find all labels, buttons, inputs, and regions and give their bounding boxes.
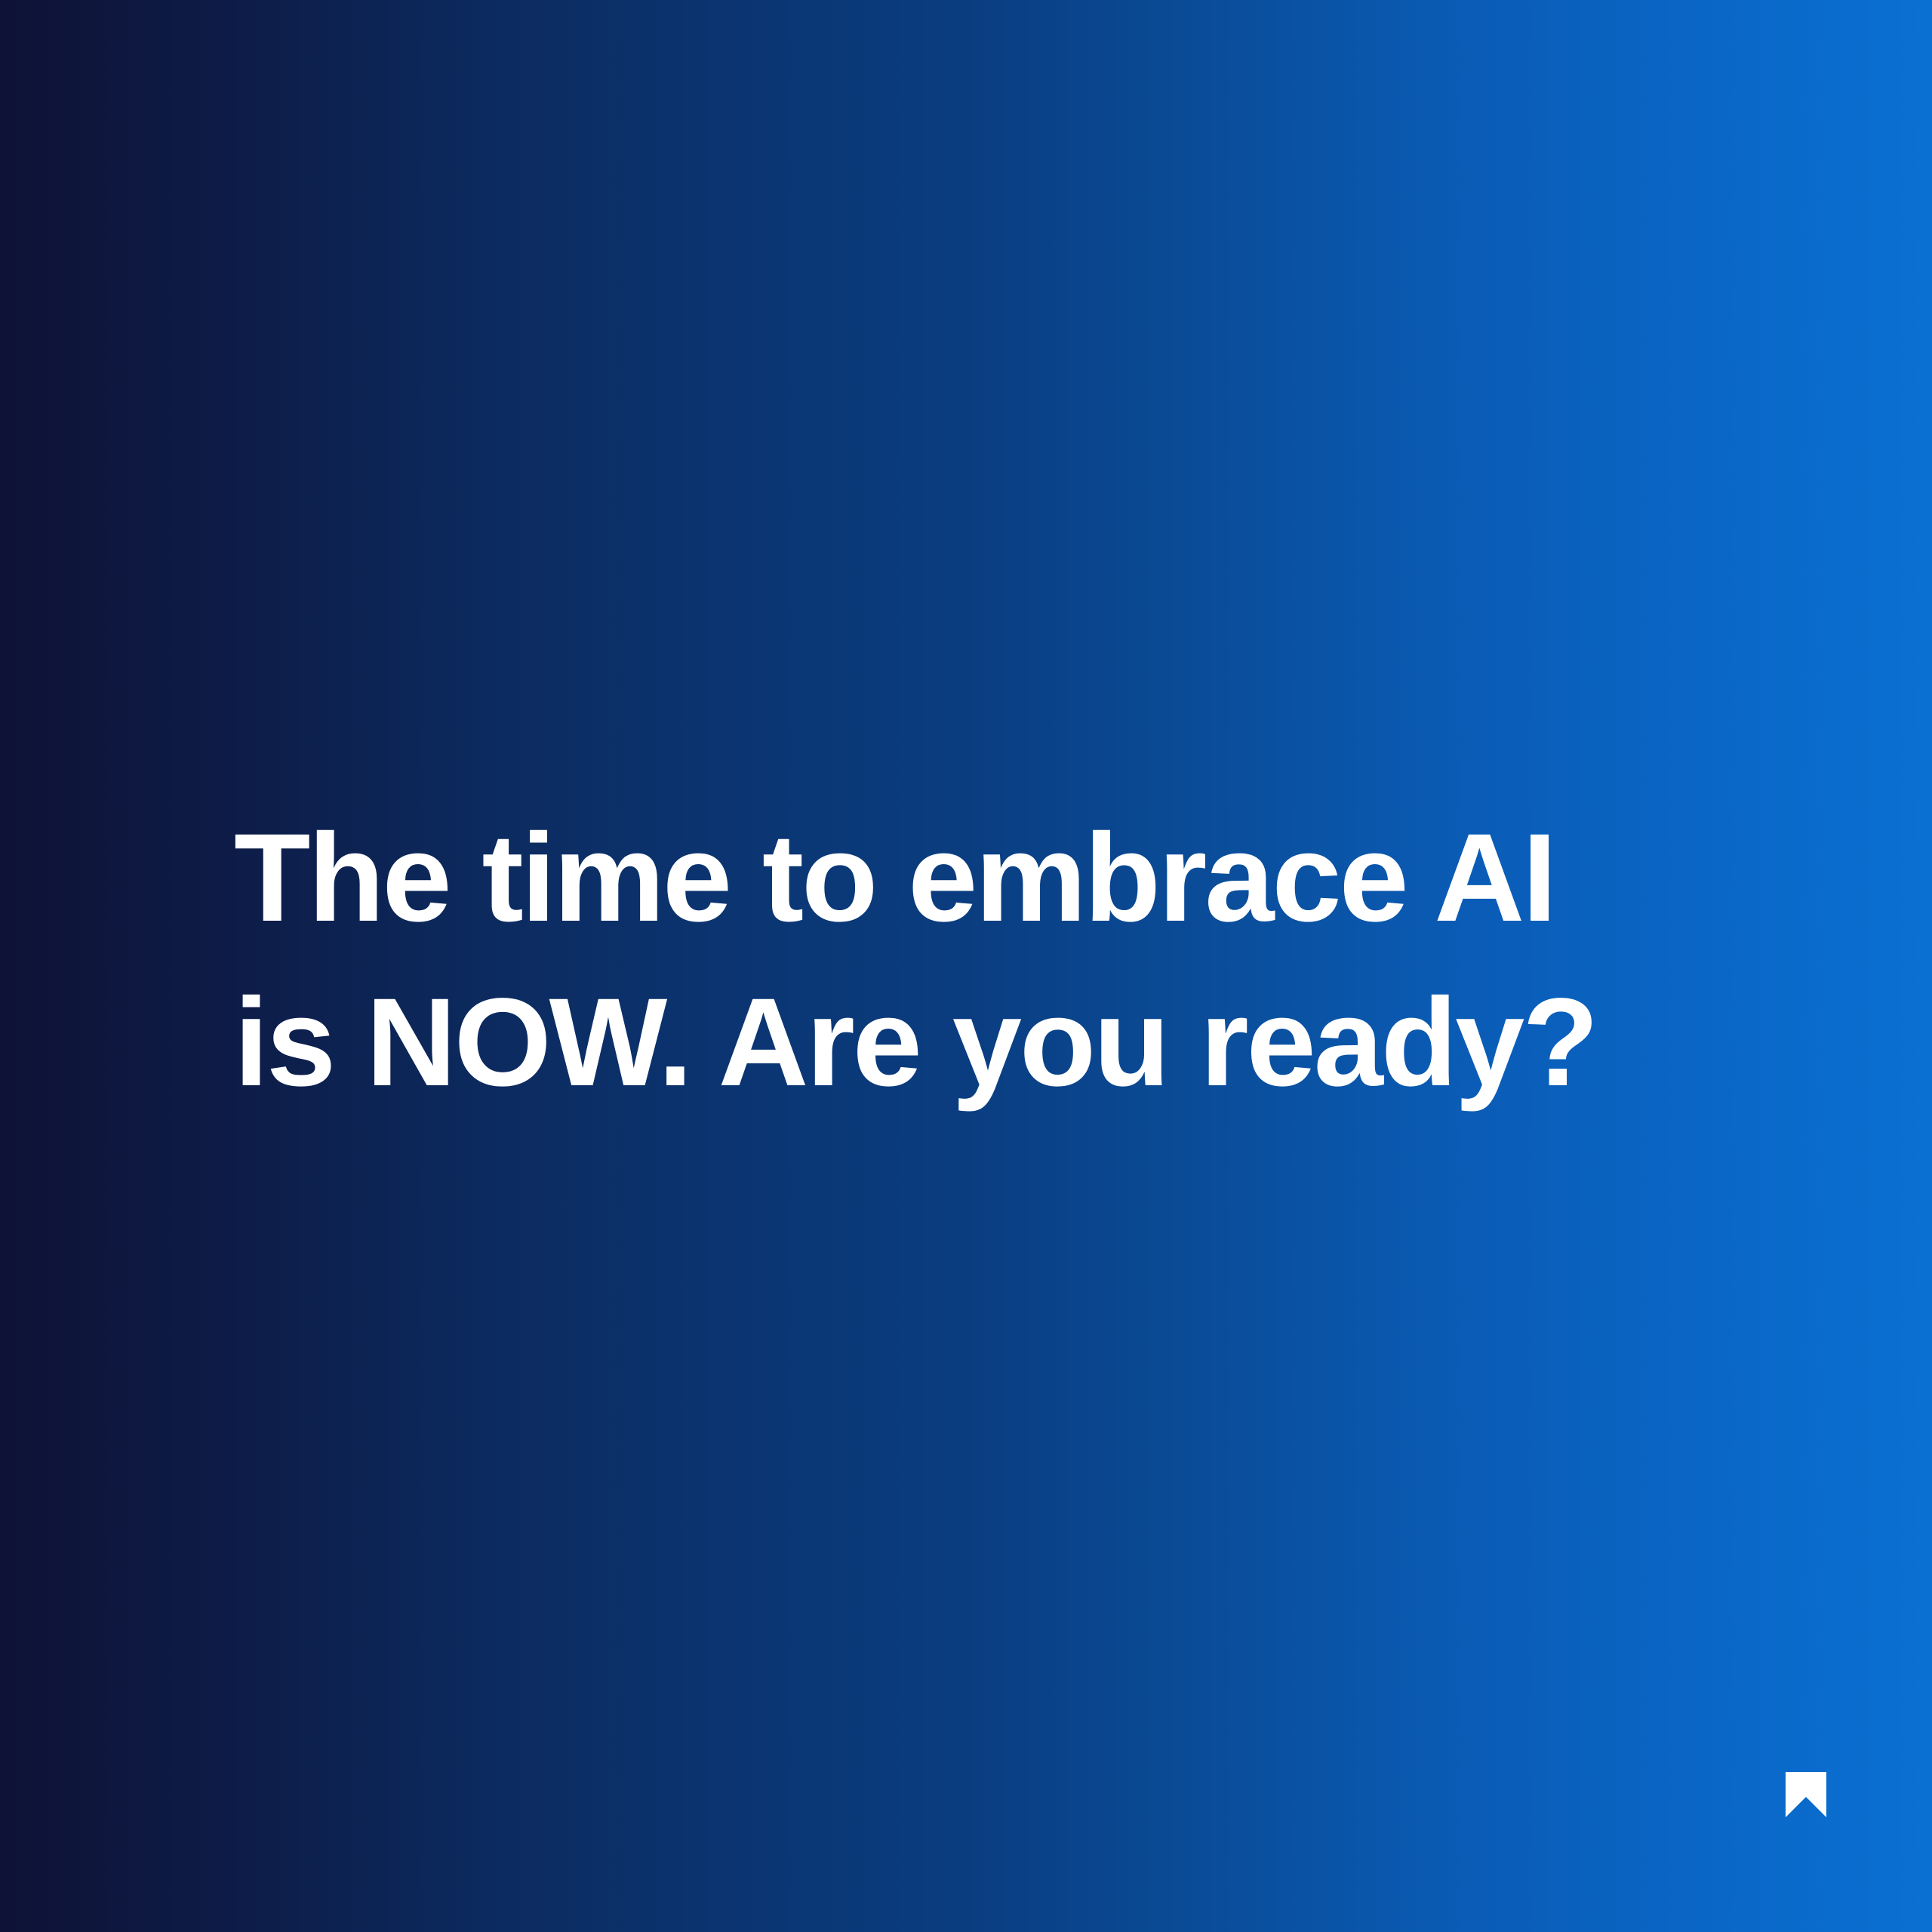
social-graphic-canvas: The time to embrace AI is NOW. Are you r… — [0, 0, 1932, 1932]
headline: The time to embrace AI is NOW. Are you r… — [234, 796, 1743, 1125]
bookmark-icon — [1786, 1772, 1826, 1817]
headline-line-1: The time to embrace AI — [234, 796, 1743, 961]
headline-line-2: is NOW. Are you ready? — [234, 961, 1743, 1125]
